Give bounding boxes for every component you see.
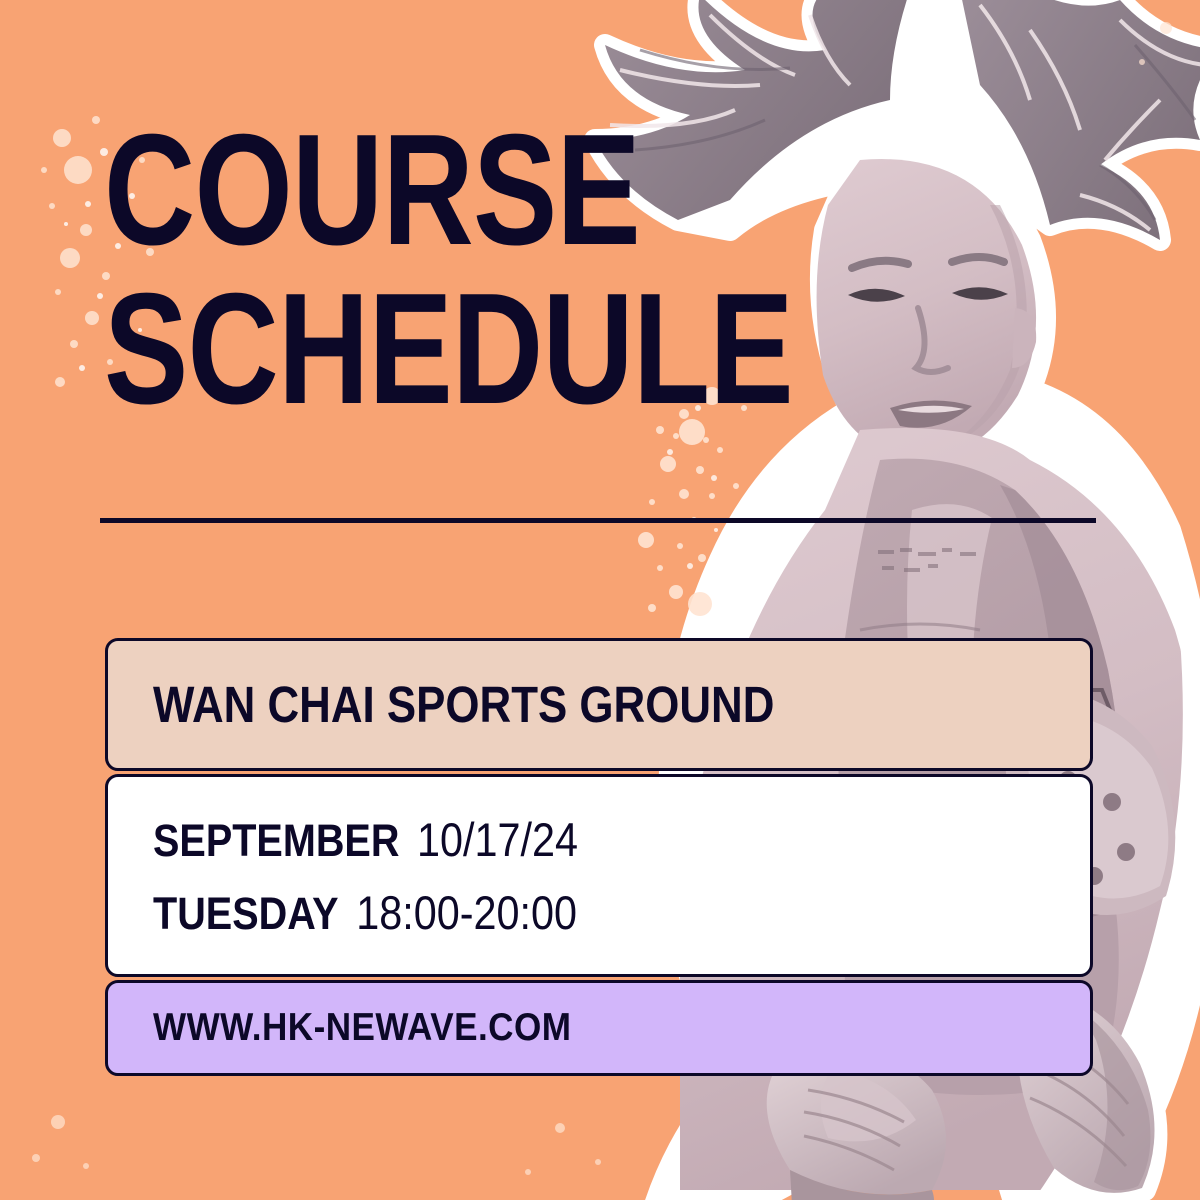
venue-label: WAN CHAI SPORTS GROUND bbox=[153, 675, 774, 734]
datetime-card: SEPTEMBER 10/17/24 TUESDAY 18:00-20:00 bbox=[105, 774, 1093, 977]
title-line-schedule: SCHEDULE bbox=[104, 277, 793, 422]
divider-rule bbox=[100, 518, 1096, 523]
page-title: COURSE SCHEDULE bbox=[104, 118, 965, 423]
website-card[interactable]: WWW.HK-NEWAVE.COM bbox=[105, 980, 1093, 1076]
time-value: 18:00-20:00 bbox=[356, 885, 577, 940]
venue-card: WAN CHAI SPORTS GROUND bbox=[105, 638, 1093, 771]
course-schedule-poster: COURSE SCHEDULE WAN CHAI SPORTS GROUND S… bbox=[0, 0, 1200, 1200]
weekday-label: TUESDAY bbox=[153, 888, 339, 940]
date-value: 10/17/24 bbox=[417, 812, 578, 867]
title-line-course: COURSE bbox=[104, 118, 793, 263]
info-card-stack: WAN CHAI SPORTS GROUND SEPTEMBER 10/17/2… bbox=[105, 638, 1093, 1076]
date-row: SEPTEMBER 10/17/24 bbox=[153, 812, 578, 867]
website-url[interactable]: WWW.HK-NEWAVE.COM bbox=[153, 1006, 571, 1050]
time-row: TUESDAY 18:00-20:00 bbox=[153, 885, 577, 940]
month-label: SEPTEMBER bbox=[153, 815, 399, 867]
